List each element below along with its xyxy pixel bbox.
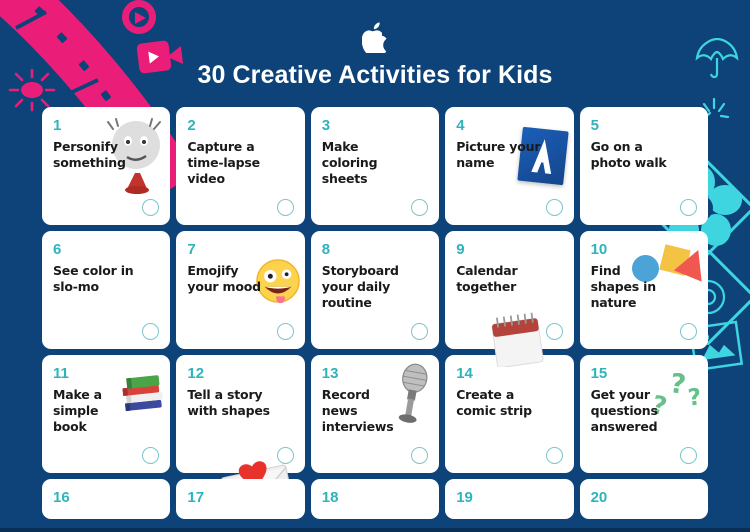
card-number: 2 — [187, 118, 293, 133]
card-checkbox[interactable] — [142, 199, 159, 216]
activity-card-2[interactable]: 2 Capture a time-lapse video — [176, 107, 304, 225]
activity-card-grid: 1 Personify something 2 Capture a time-l… — [0, 107, 750, 473]
activity-card-12[interactable]: 12 Tell a story with shapes — [176, 355, 304, 473]
activity-card-18[interactable]: 18 — [311, 479, 439, 519]
activity-card-4[interactable]: 4 Picture your name — [445, 107, 573, 225]
card-number: 20 — [591, 490, 697, 505]
card-label: Make coloring sheets — [322, 139, 408, 187]
card-number: 15 — [591, 366, 697, 381]
card-number: 13 — [322, 366, 428, 381]
card-checkbox[interactable] — [411, 199, 428, 216]
card-number: 16 — [53, 490, 159, 505]
activity-card-3[interactable]: 3 Make coloring sheets — [311, 107, 439, 225]
card-number: 6 — [53, 242, 159, 257]
card-number: 4 — [456, 118, 562, 133]
card-number: 10 — [591, 242, 697, 257]
card-number: 3 — [322, 118, 428, 133]
card-label: Go on a photo walk — [591, 139, 677, 171]
card-label: Storyboard your daily routine — [322, 263, 427, 311]
card-label: Make a simple book — [53, 387, 113, 435]
card-label: Emojify your mood — [187, 263, 273, 295]
card-checkbox[interactable] — [411, 323, 428, 340]
card-label: Tell a story with shapes — [187, 387, 287, 419]
card-label: Picture your name — [456, 139, 542, 171]
activity-card-17[interactable]: 17 — [176, 479, 304, 519]
card-label: Create a comic strip — [456, 387, 542, 419]
card-label: Record news interviews — [322, 387, 392, 435]
activity-card-11[interactable]: 11 Make a simple book — [42, 355, 170, 473]
activity-card-1[interactable]: 1 Personify something — [42, 107, 170, 225]
activity-card-15[interactable]: 15 Get your questions answered ? ? ? — [580, 355, 708, 473]
activity-card-5[interactable]: 5 Go on a photo walk — [580, 107, 708, 225]
page-title: 30 Creative Activities for Kids — [0, 61, 750, 90]
activity-card-8[interactable]: 8 Storyboard your daily routine — [311, 231, 439, 349]
card-number: 19 — [456, 490, 562, 505]
card-label: Get your questions answered — [591, 387, 659, 435]
card-number: 11 — [53, 366, 159, 381]
apple-logo-icon — [362, 22, 388, 53]
activity-card-13[interactable]: 13 Record news interviews — [311, 355, 439, 473]
activity-card-grid-partial: 16 17 18 19 20 — [0, 479, 750, 519]
card-checkbox[interactable] — [546, 199, 563, 216]
card-checkbox[interactable] — [411, 447, 428, 464]
activity-card-14[interactable]: 14 Create a comic strip — [445, 355, 573, 473]
activity-card-9[interactable]: 9 Calendar together — [445, 231, 573, 349]
card-number: 9 — [456, 242, 562, 257]
activity-card-16[interactable]: 16 — [42, 479, 170, 519]
card-checkbox[interactable] — [680, 199, 697, 216]
card-number: 18 — [322, 490, 428, 505]
card-checkbox[interactable] — [680, 447, 697, 464]
card-checkbox[interactable] — [546, 323, 563, 340]
card-checkbox[interactable] — [680, 323, 697, 340]
card-checkbox[interactable] — [142, 447, 159, 464]
bottom-edge-strip — [0, 528, 750, 532]
card-number: 8 — [322, 242, 428, 257]
card-number: 14 — [456, 366, 562, 381]
card-label: Calendar together — [456, 263, 542, 295]
card-number: 17 — [187, 490, 293, 505]
card-number: 1 — [53, 118, 159, 133]
card-number: 7 — [187, 242, 293, 257]
card-label: Personify something — [53, 139, 139, 171]
card-checkbox[interactable] — [277, 323, 294, 340]
question-mark-glyph: ? — [687, 384, 703, 411]
card-label: See color in slo-mo — [53, 263, 139, 295]
activity-card-7[interactable]: 7 Emojify your mood — [176, 231, 304, 349]
card-checkbox[interactable] — [277, 199, 294, 216]
card-checkbox[interactable] — [546, 447, 563, 464]
activity-card-20[interactable]: 20 — [580, 479, 708, 519]
activity-card-19[interactable]: 19 — [445, 479, 573, 519]
activity-card-10[interactable]: 10 Find shapes in nature — [580, 231, 708, 349]
card-label: Capture a time-lapse video — [187, 139, 273, 187]
card-label: Find shapes in nature — [591, 263, 661, 311]
activity-card-6[interactable]: 6 See color in slo-mo — [42, 231, 170, 349]
card-number: 5 — [591, 118, 697, 133]
page-header: 30 Creative Activities for Kids — [0, 0, 750, 90]
card-checkbox[interactable] — [142, 323, 159, 340]
card-number: 12 — [187, 366, 293, 381]
